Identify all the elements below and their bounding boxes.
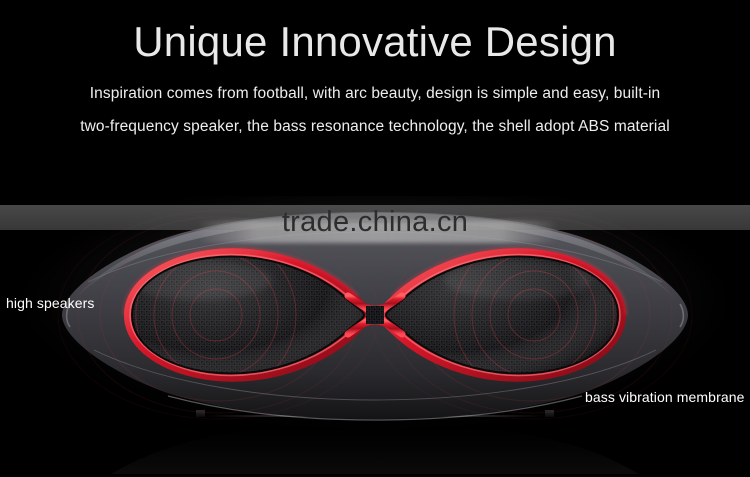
- subtitle-line-1: Inspiration comes from football, with ar…: [0, 85, 750, 103]
- page-title: Unique Innovative Design: [0, 20, 750, 64]
- annotation-high-speakers: high speakers: [6, 295, 94, 311]
- product-banner: Unique Innovative Design Inspiration com…: [0, 0, 750, 477]
- subtitle-line-2: two-frequency speaker, the bass resonanc…: [0, 118, 750, 136]
- annotation-bass-vibration-membrane: bass vibration membrane: [585, 389, 745, 405]
- product-reflection: [48, 418, 702, 474]
- product-scene: [0, 196, 750, 477]
- header-section: Unique Innovative Design Inspiration com…: [0, 0, 750, 196]
